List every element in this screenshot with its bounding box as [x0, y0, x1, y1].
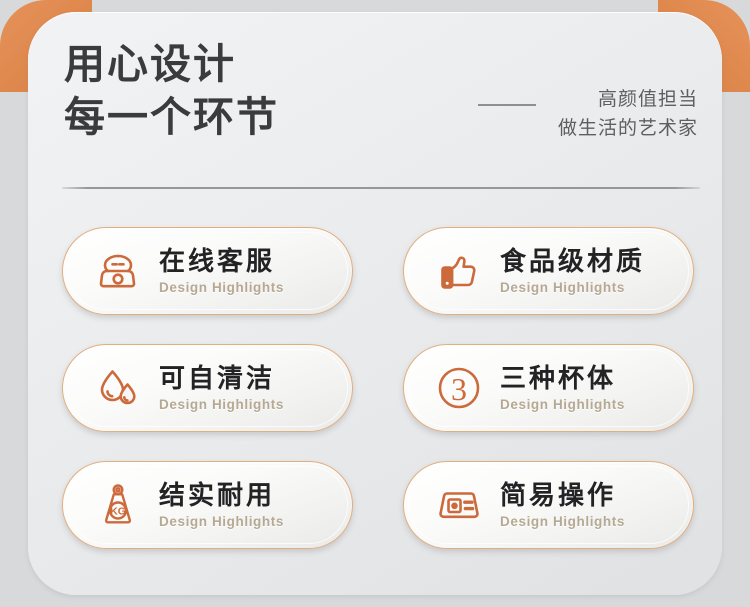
feature-card-subtitle: Design Highlights [500, 397, 625, 412]
feature-card-subtitle: Design Highlights [159, 397, 284, 412]
svg-text:3: 3 [451, 371, 467, 407]
headline-line-2: 每一个环节 [64, 91, 279, 144]
tagline-line-1: 高颜值担当 [558, 86, 698, 115]
feature-card-food-grade-material[interactable]: 食品级材质 Design Highlights [403, 227, 694, 315]
feature-card-three-cup-types[interactable]: 3 三种杯体 Design Highlights [403, 344, 694, 432]
feature-card-online-service[interactable]: 在线客服 Design Highlights [62, 227, 353, 315]
control-panel-icon [430, 476, 488, 534]
tagline-rule [478, 104, 536, 106]
feature-card-subtitle: Design Highlights [159, 280, 284, 295]
feature-card-text: 在线客服 Design Highlights [159, 247, 284, 294]
feature-card-text: 食品级材质 Design Highlights [500, 247, 645, 294]
tagline-line-2: 做生活的艺术家 [558, 115, 698, 144]
header-divider [62, 187, 700, 189]
feature-card-self-cleaning[interactable]: 可自清洁 Design Highlights [62, 344, 353, 432]
content-panel: 用心设计 每一个环节 高颜值担当 做生活的艺术家 [28, 12, 722, 595]
feature-card-text: 可自清洁 Design Highlights [159, 364, 284, 411]
feature-card-title: 食品级材质 [500, 247, 645, 276]
water-droplets-icon [89, 359, 147, 417]
feature-card-title: 简易操作 [500, 481, 625, 510]
feature-card-subtitle: Design Highlights [159, 514, 284, 529]
tagline: 高颜值担当 做生活的艺术家 [558, 86, 698, 144]
telephone-icon [89, 242, 147, 300]
svg-text:KG: KG [110, 506, 126, 518]
feature-card-durable[interactable]: KG 结实耐用 Design Highlights [62, 461, 353, 549]
feature-card-title: 三种杯体 [500, 364, 625, 393]
feature-card-title: 结实耐用 [159, 481, 284, 510]
feature-card-text: 简易操作 Design Highlights [500, 481, 625, 528]
headline-line-1: 用心设计 [64, 38, 279, 91]
number-three-icon: 3 [430, 359, 488, 417]
feature-card-subtitle: Design Highlights [500, 514, 625, 529]
promo-banner: 用心设计 每一个环节 高颜值担当 做生活的艺术家 [0, 0, 750, 607]
feature-card-title: 可自清洁 [159, 364, 284, 393]
page-title: 用心设计 每一个环节 [64, 38, 279, 145]
kg-weight-icon: KG [89, 476, 147, 534]
feature-card-title: 在线客服 [159, 247, 284, 276]
banner-header: 用心设计 每一个环节 高颜值担当 做生活的艺术家 [28, 12, 722, 182]
feature-card-grid: 在线客服 Design Highlights 食品级材质 Design High… [62, 227, 694, 549]
feature-card-text: 三种杯体 Design Highlights [500, 364, 625, 411]
feature-card-subtitle: Design Highlights [500, 280, 645, 295]
thumbs-up-icon [430, 242, 488, 300]
feature-card-easy-operation[interactable]: 简易操作 Design Highlights [403, 461, 694, 549]
feature-card-text: 结实耐用 Design Highlights [159, 481, 284, 528]
